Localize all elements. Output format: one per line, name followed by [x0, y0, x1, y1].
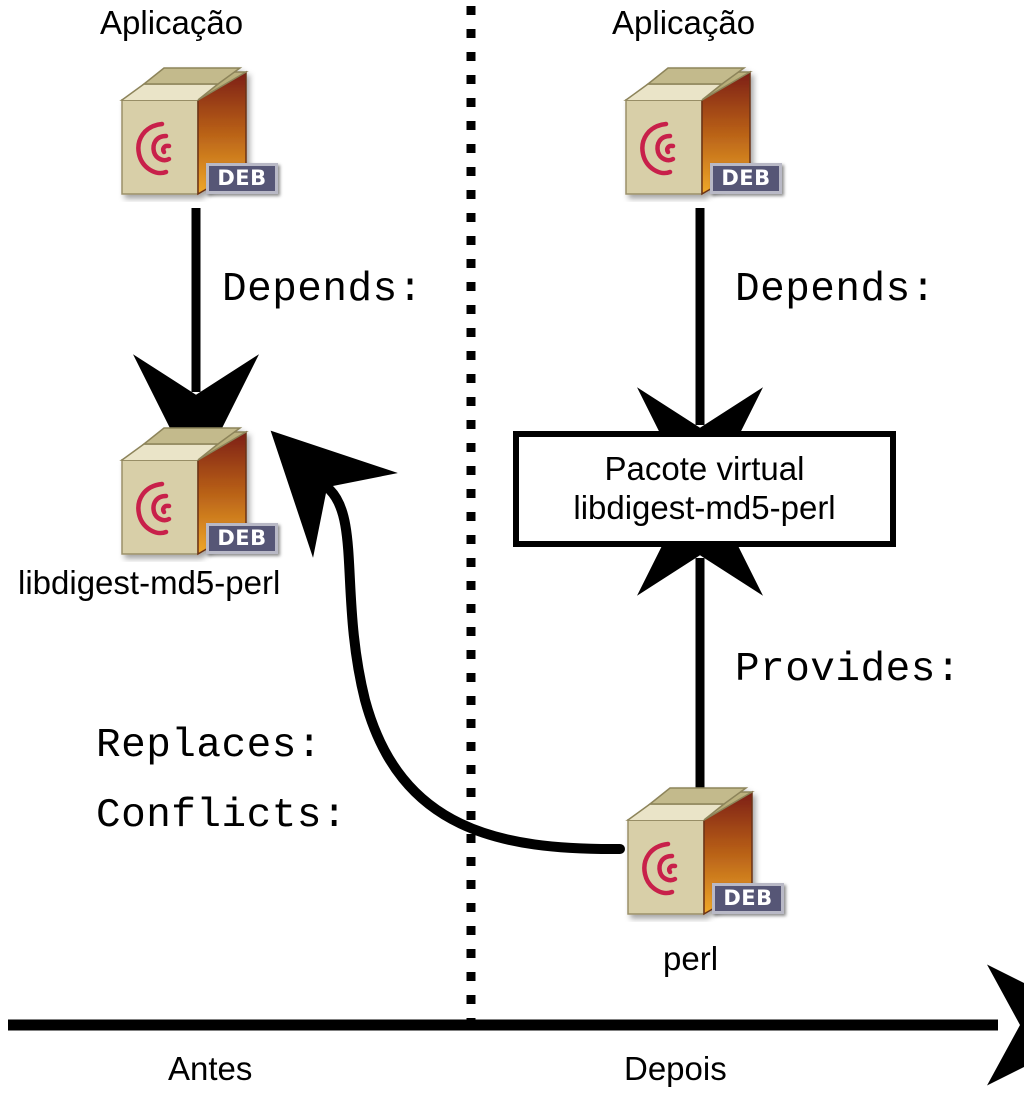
label-perl: perl	[663, 942, 718, 975]
package-icon-app-left[interactable]: DEB	[114, 62, 274, 202]
package-icon-app-right[interactable]: DEB	[618, 62, 778, 202]
label-depends-right: Depends:	[735, 270, 936, 311]
deb-badge-text: DEB	[217, 528, 266, 549]
deb-badge: DEB	[206, 163, 278, 194]
package-icon-libdigest-md5-perl[interactable]: DEB	[114, 422, 274, 562]
virtual-package-line1: Pacote virtual	[605, 450, 805, 489]
label-provides: Provides:	[735, 650, 961, 691]
left-column-title: Aplicação	[100, 6, 243, 39]
label-conflicts: Conflicts:	[96, 796, 347, 837]
right-column-title: Aplicação	[612, 6, 755, 39]
deb-badge-text: DEB	[723, 888, 772, 909]
label-replaces: Replaces:	[96, 726, 322, 767]
deb-badge-text: DEB	[217, 168, 266, 189]
virtual-package-box[interactable]: Pacote virtual libdigest-md5-perl	[513, 431, 896, 547]
timeline-label-before: Antes	[168, 1052, 252, 1085]
diagram-canvas: Aplicação Aplicação	[0, 0, 1024, 1094]
package-icon-perl[interactable]: DEB	[620, 782, 780, 922]
label-depends-left: Depends:	[222, 270, 423, 311]
timeline-label-after: Depois	[624, 1052, 727, 1085]
deb-badge: DEB	[710, 163, 782, 194]
virtual-package-line2: libdigest-md5-perl	[573, 489, 835, 528]
deb-badge: DEB	[712, 883, 784, 914]
deb-badge: DEB	[206, 523, 278, 554]
deb-badge-text: DEB	[721, 168, 770, 189]
label-libdigest-md5-perl: libdigest-md5-perl	[18, 566, 280, 599]
